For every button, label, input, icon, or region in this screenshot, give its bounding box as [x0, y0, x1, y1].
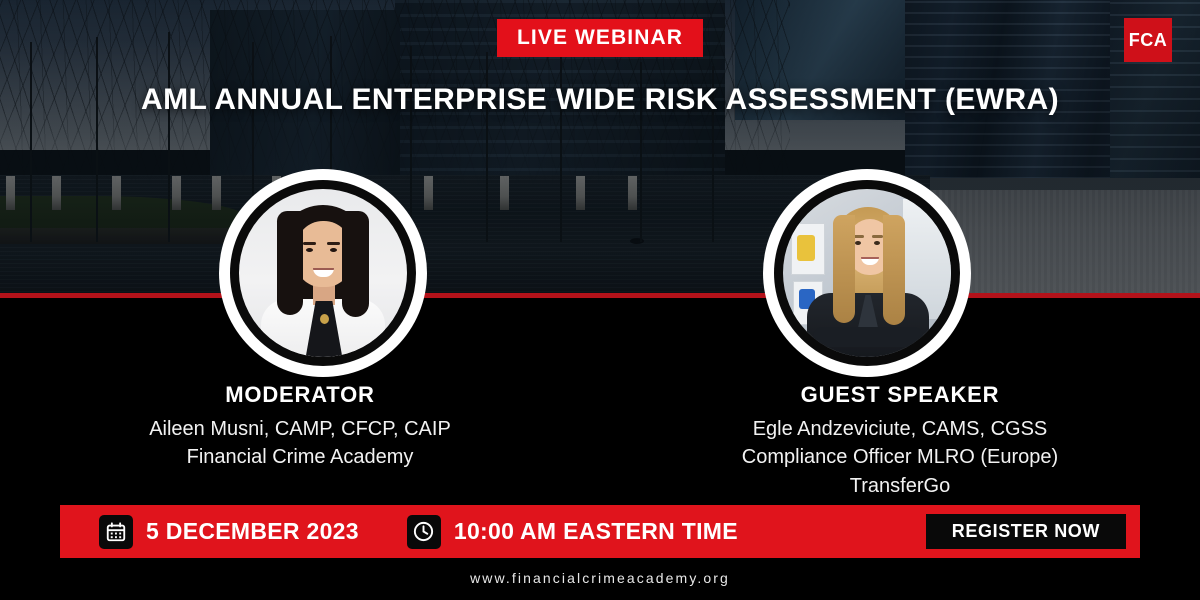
moderator-name: Aileen Musni, CAMP, CFCP, CAIP [0, 415, 600, 443]
register-now-label: REGISTER NOW [952, 521, 1100, 542]
pendant [320, 314, 329, 324]
fca-logo[interactable]: FCA [1124, 18, 1172, 62]
eye-right [330, 248, 337, 252]
moderator-organization: Financial Crime Academy [0, 443, 600, 471]
eye-right [874, 241, 880, 245]
webinar-banner: LIVE WEBINAR FCA AML ANNUAL ENTERPRISE W… [0, 0, 1200, 600]
guest-speaker-organization: TransferGo [600, 472, 1200, 500]
eye-left [855, 241, 861, 245]
red-divider-line [0, 293, 1200, 298]
calendar-icon [99, 515, 133, 549]
avatar-ring-gap [230, 180, 416, 366]
eyebrow-left [303, 242, 316, 245]
fca-logo-label: FCA [1129, 30, 1168, 51]
moderator-details: MODERATOR Aileen Musni, CAMP, CFCP, CAIP… [0, 382, 600, 500]
event-time: 10:00 AM EASTERN TIME [454, 518, 738, 545]
event-details-bar: 5 DECEMBER 2023 10:00 AM EASTERN TIME RE… [60, 505, 1140, 558]
event-time-item: 10:00 AM EASTERN TIME [407, 515, 738, 549]
hair-strand-right [342, 211, 369, 317]
live-webinar-badge: LIVE WEBINAR [497, 19, 703, 57]
moderator-photo [239, 189, 407, 357]
eyebrow-right [872, 235, 883, 238]
moderator-avatar [219, 169, 427, 377]
avatar-ring-gap [774, 180, 960, 366]
hair-strand-left [833, 215, 855, 323]
guest-speaker-name: Egle Andzeviciute, CAMS, CGSS [600, 415, 1200, 443]
event-date: 5 DECEMBER 2023 [146, 518, 359, 545]
wall-art-shape [797, 235, 815, 261]
event-date-item: 5 DECEMBER 2023 [99, 515, 359, 549]
clock-icon [407, 515, 441, 549]
crossed-arms [813, 327, 923, 347]
page-title: AML ANNUAL ENTERPRISE WIDE RISK ASSESSME… [0, 83, 1200, 117]
eyebrow-right [327, 242, 340, 245]
speakers-section: MODERATOR Aileen Musni, CAMP, CFCP, CAIP… [0, 382, 1200, 500]
eye-left [306, 248, 313, 252]
register-now-button[interactable]: REGISTER NOW [926, 514, 1126, 549]
moderator-role-label: MODERATOR [0, 382, 600, 408]
hair-strand-right [883, 215, 905, 325]
guest-speaker-photo [783, 189, 951, 357]
website-url[interactable]: www.financialcrimeacademy.org [0, 570, 1200, 586]
guest-speaker-position: Compliance Officer MLRO (Europe) [600, 443, 1200, 471]
hair-strand-left [277, 211, 303, 315]
guest-speaker-role-label: GUEST SPEAKER [600, 382, 1200, 408]
live-webinar-label: LIVE WEBINAR [517, 26, 683, 50]
guest-speaker-details: GUEST SPEAKER Egle Andzeviciute, CAMS, C… [600, 382, 1200, 500]
guest-speaker-avatar [763, 169, 971, 377]
